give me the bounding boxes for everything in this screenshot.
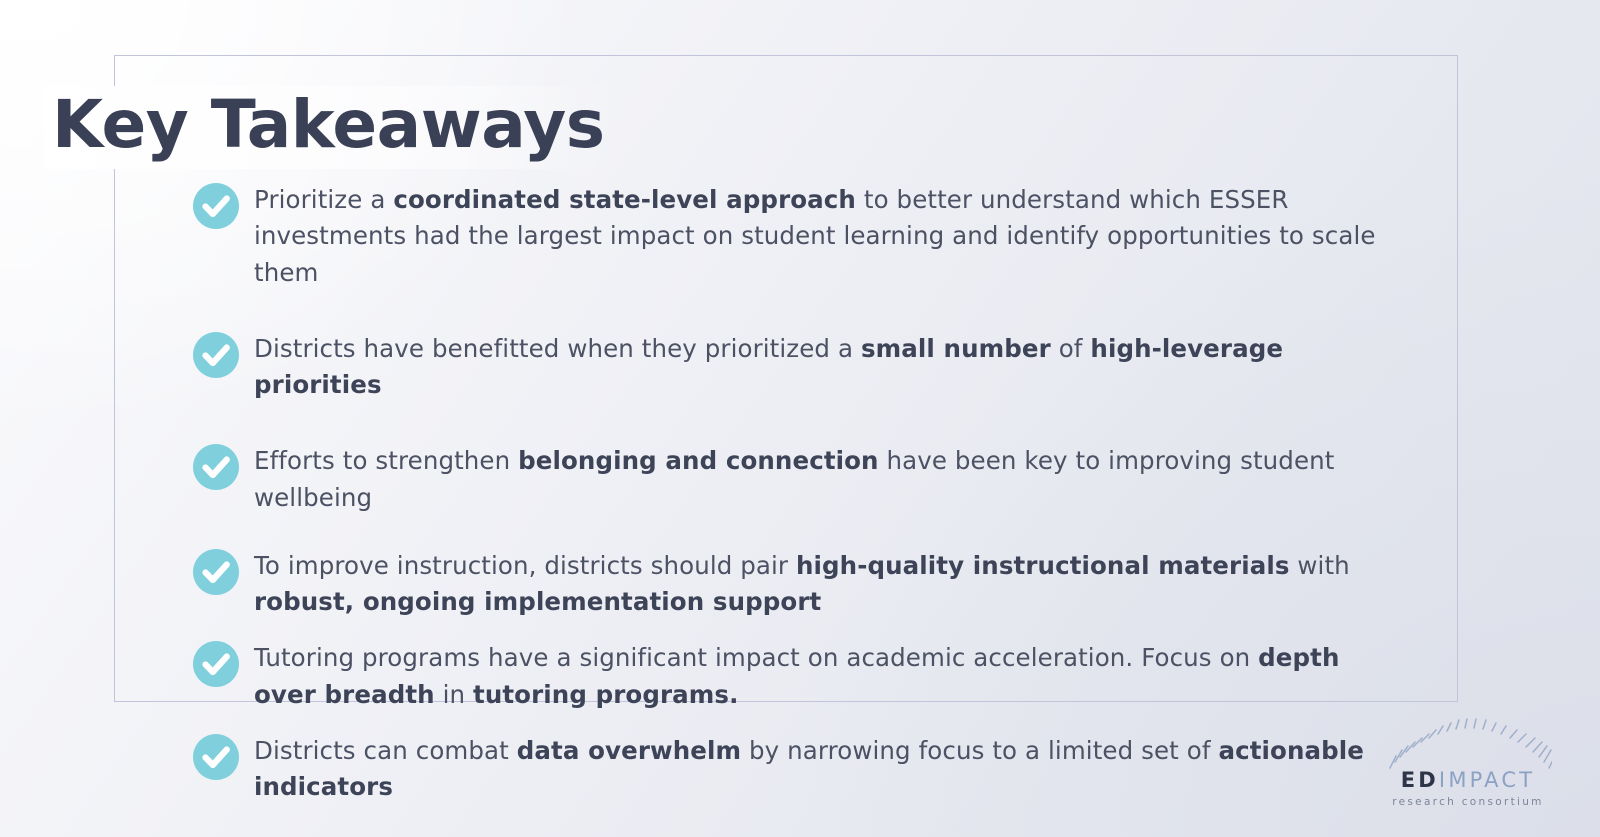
text-run: with [1290, 551, 1350, 580]
text-run: Efforts to strengthen [254, 446, 518, 475]
logo: EDIMPACT research consortium [1378, 718, 1558, 808]
text-run: Tutoring programs have a significant imp… [254, 643, 1258, 672]
text-emphasis: data overwhelm [517, 736, 741, 765]
text-run: of [1051, 334, 1091, 363]
text-emphasis: belonging and connection [518, 446, 878, 475]
list-item: Districts have benefitted when they prio… [192, 329, 1392, 404]
list-item-text: Tutoring programs have a significant imp… [254, 638, 1392, 713]
check-circle-icon [192, 182, 240, 230]
text-emphasis: high-quality instructional materials [796, 551, 1290, 580]
list-item: Tutoring programs have a significant imp… [192, 638, 1392, 713]
text-run: Districts have benefitted when they prio… [254, 334, 861, 363]
text-emphasis: small number [861, 334, 1051, 363]
logo-wordmark: EDIMPACT [1378, 768, 1558, 792]
list-item-text: To improve instruction, districts should… [254, 546, 1392, 621]
list-item: Districts can combat data overwhelm by n… [192, 731, 1392, 806]
page-title: Key Takeaways [44, 86, 621, 169]
text-run: by narrowing focus to a limited set of [741, 736, 1218, 765]
list-item: To improve instruction, districts should… [192, 546, 1392, 621]
check-circle-icon [192, 640, 240, 688]
logo-tagline: research consortium [1378, 796, 1558, 808]
list-item-text: Districts can combat data overwhelm by n… [254, 731, 1392, 806]
list-item-text: Prioritize a coordinated state-level app… [254, 180, 1392, 291]
text-emphasis: coordinated state-level approach [393, 185, 856, 214]
check-circle-icon [192, 331, 240, 379]
text-run: in [435, 680, 473, 709]
takeaways-list: Prioritize a coordinated state-level app… [192, 180, 1392, 829]
check-circle-icon [192, 733, 240, 781]
check-circle-icon [192, 548, 240, 596]
text-run: To improve instruction, districts should… [254, 551, 796, 580]
check-circle-icon [192, 443, 240, 491]
logo-word-impact: IMPACT [1439, 768, 1535, 792]
text-run: Prioritize a [254, 185, 393, 214]
slide-canvas: Key Takeaways Prioritize a coordinated s… [0, 0, 1600, 837]
logo-word-ed: ED [1401, 768, 1439, 792]
text-emphasis: tutoring programs. [473, 680, 739, 709]
list-item-text: Districts have benefitted when they prio… [254, 329, 1392, 404]
list-item: Prioritize a coordinated state-level app… [192, 180, 1392, 291]
sunburst-icon [1384, 718, 1552, 770]
text-emphasis: robust, ongoing implementation support [254, 587, 821, 616]
list-item-text: Efforts to strengthen belonging and conn… [254, 441, 1392, 516]
list-item: Efforts to strengthen belonging and conn… [192, 441, 1392, 516]
text-run: Districts can combat [254, 736, 517, 765]
